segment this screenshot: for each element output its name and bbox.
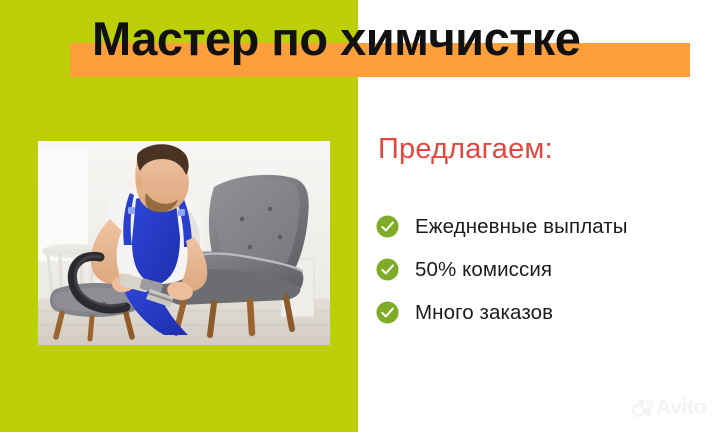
page-title: Мастер по химчистке [92, 6, 712, 72]
watermark-text: Avito [656, 396, 706, 420]
check-circle-icon [376, 215, 399, 238]
avito-logo-icon [632, 398, 654, 418]
photo-upholstery-cleaning [38, 141, 330, 345]
offer-heading: Предлагаем: [378, 133, 553, 166]
benefit-label: Много заказов [415, 301, 553, 325]
advert-banner: Мастер по химчистке [0, 0, 720, 432]
benefit-list: Ежедневные выплаты 50% комиссия Много за… [376, 205, 706, 334]
check-circle-icon [376, 301, 399, 324]
list-item: 50% комиссия [376, 248, 706, 291]
benefit-label: Ежедневные выплаты [415, 215, 628, 239]
list-item: Много заказов [376, 291, 706, 334]
benefit-label: 50% комиссия [415, 258, 552, 282]
check-circle-icon [376, 258, 399, 281]
list-item: Ежедневные выплаты [376, 205, 706, 248]
photo-image [38, 141, 330, 345]
watermark: Avito [632, 396, 706, 420]
